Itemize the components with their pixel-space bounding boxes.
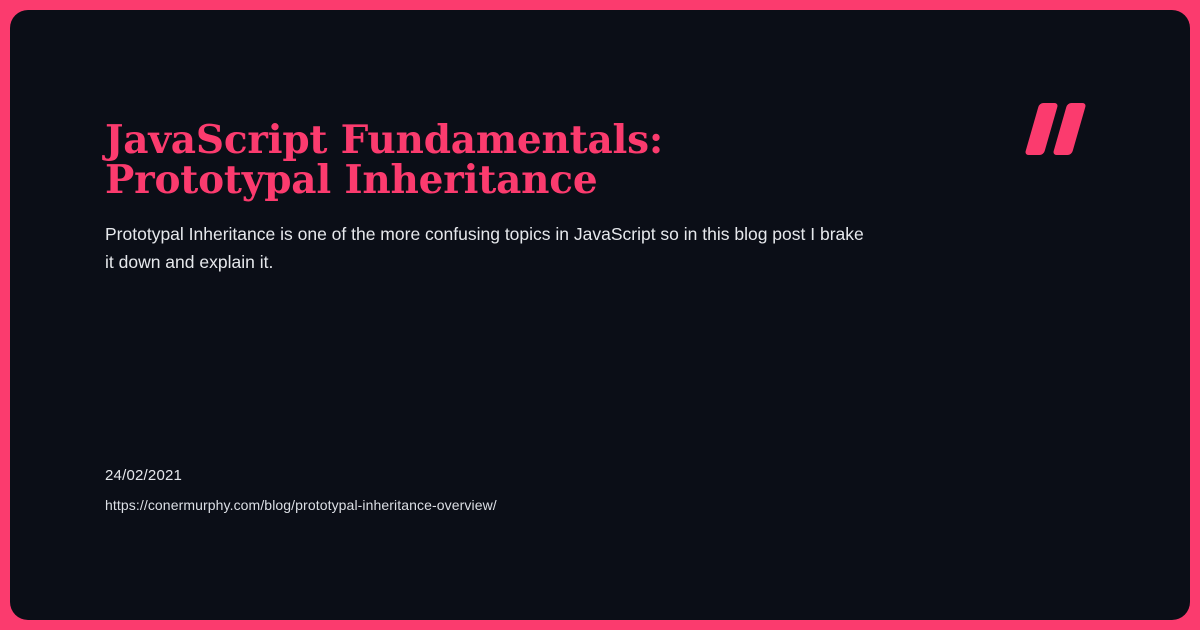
post-title: JavaScript Fundamentals: Prototypal Inhe… [105, 120, 895, 200]
double-slash-logo-icon [1028, 103, 1092, 155]
og-image-card: JavaScript Fundamentals: Prototypal Inhe… [0, 0, 1200, 630]
post-meta: 24/02/2021 https://conermurphy.com/blog/… [105, 465, 905, 515]
card-surface: JavaScript Fundamentals: Prototypal Inhe… [10, 10, 1190, 620]
logo-bar-right [1053, 103, 1087, 155]
post-content: JavaScript Fundamentals: Prototypal Inhe… [105, 120, 895, 276]
post-url: https://conermurphy.com/blog/prototypal-… [105, 495, 905, 515]
logo-bar-left [1025, 103, 1059, 155]
post-date: 24/02/2021 [105, 465, 905, 487]
post-excerpt: Prototypal Inheritance is one of the mor… [105, 220, 870, 276]
